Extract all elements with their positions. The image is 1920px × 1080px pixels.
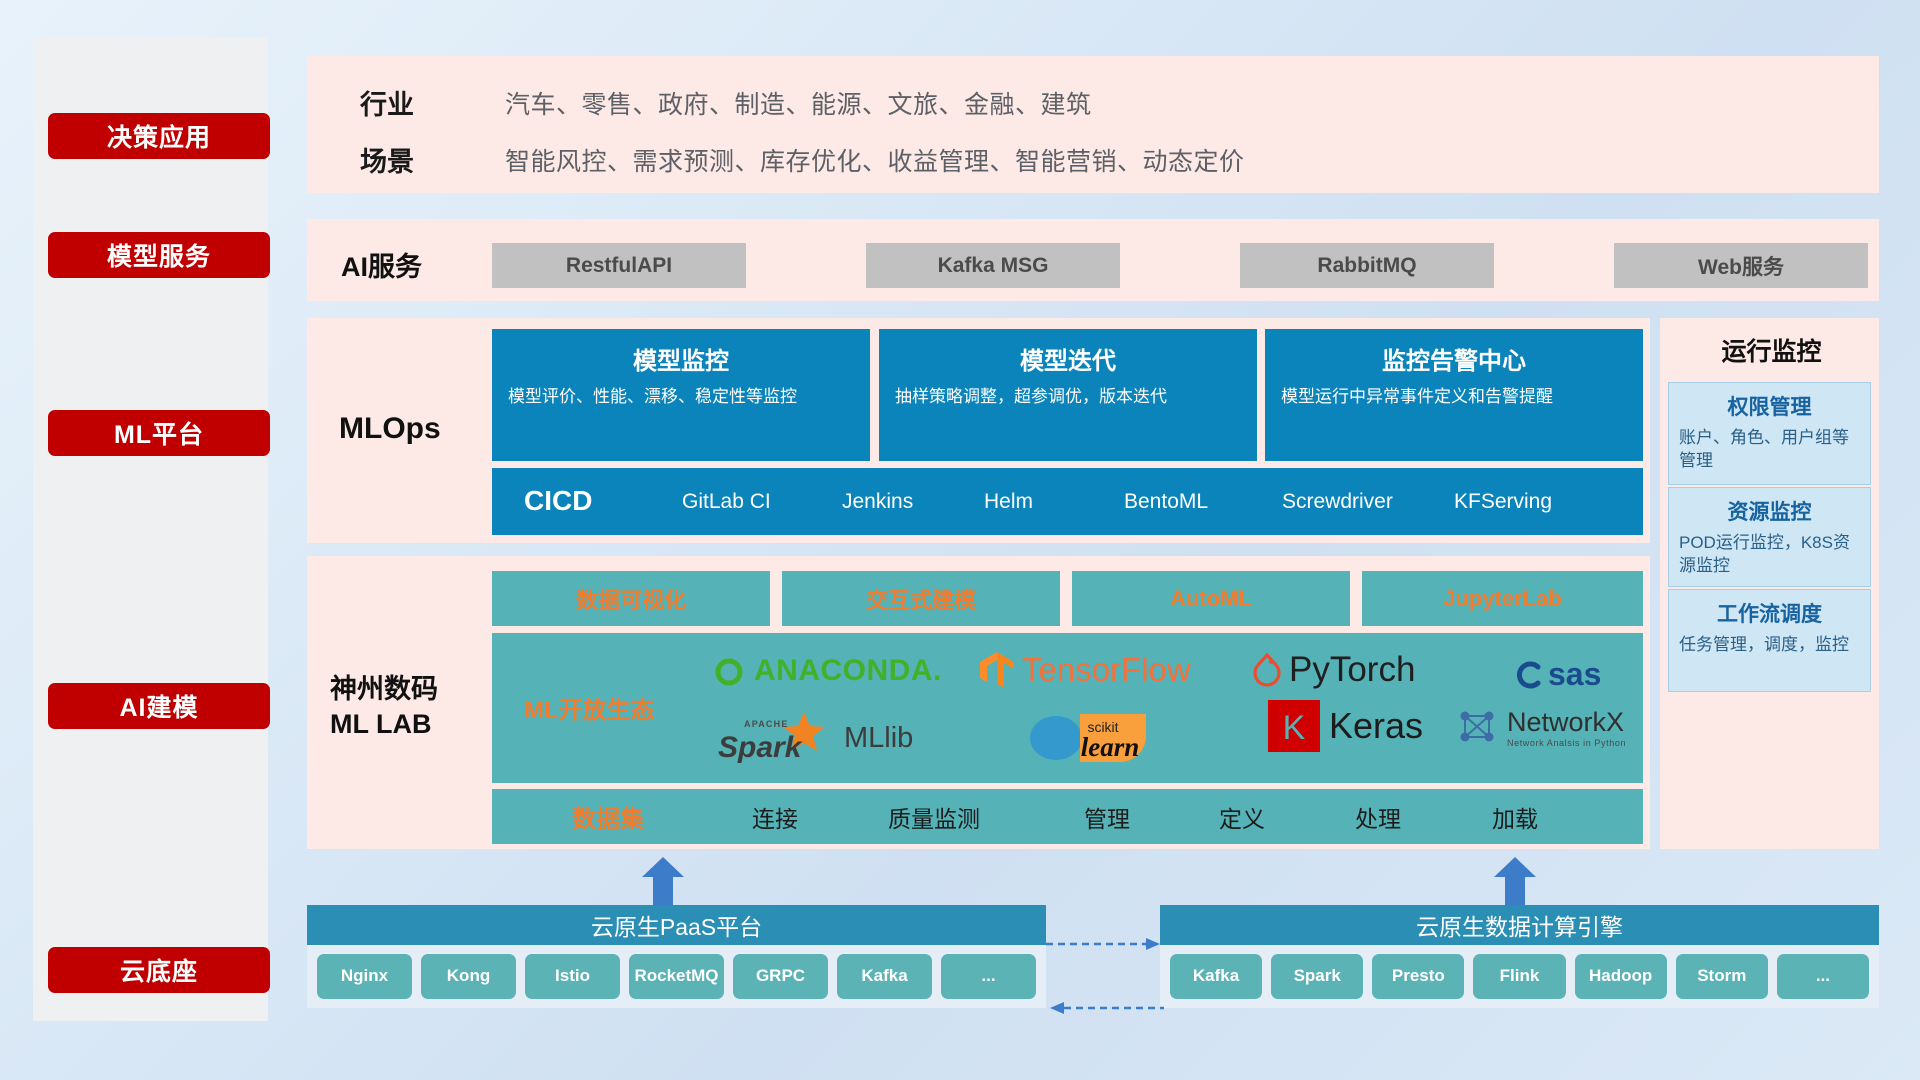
ml-lab-title-line2: ML LAB	[330, 709, 432, 739]
ml-ecosystem-label: ML开放生态	[524, 690, 655, 725]
stage-chip-ml-platform[interactable]: ML平台	[48, 410, 270, 456]
architecture-diagram: 决策应用 模型服务 ML平台 AI建模 云底座 行业 汽车、零售、政府、制造、能…	[0, 0, 1920, 1080]
cloud-chip-presto[interactable]: Presto	[1372, 954, 1464, 999]
cicd-title: CICD	[524, 485, 592, 517]
logo-networkx: NetworkX Network Analsis in Python	[1455, 704, 1626, 750]
svg-text:Spark: Spark	[718, 731, 803, 764]
tensorflow-wordmark: TensorFlow	[1022, 651, 1191, 689]
card-desc: 模型运行中异常事件定义和告警提醒	[1281, 386, 1627, 409]
networkx-wordmark: NetworkX	[1507, 707, 1626, 738]
dataset-item-definition[interactable]: 定义	[1219, 800, 1265, 834]
mlops-card-model-monitoring[interactable]: 模型监控 模型评价、性能、漂移、稳定性等监控	[492, 329, 870, 461]
cloud-chip-istio[interactable]: Istio	[525, 954, 620, 999]
anaconda-icon	[712, 654, 746, 688]
cicd-item-jenkins[interactable]: Jenkins	[842, 490, 914, 514]
cicd-item-helm[interactable]: Helm	[984, 490, 1056, 514]
ai-service-label: AI服务	[341, 245, 422, 284]
svg-text:learn: learn	[1081, 732, 1140, 762]
stage-chip-model-service[interactable]: 模型服务	[48, 232, 270, 278]
card-desc: POD运行监控，K8S资源监控	[1679, 532, 1860, 578]
dataset-item-loading[interactable]: 加载	[1492, 800, 1538, 834]
cloud-chip-flink[interactable]: Flink	[1473, 954, 1565, 999]
logo-anaconda: ANACONDA.	[712, 654, 942, 688]
arrow-up-data-engine	[1492, 857, 1538, 905]
card-desc: 抽样策略调整，超参调优，版本迭代	[895, 386, 1241, 409]
card-title: 模型监控	[508, 341, 854, 376]
monitor-column-title: 运行监控	[1684, 332, 1859, 368]
cicd-bar: CICD GitLab CI Jenkins Helm BentoML Scre…	[492, 468, 1643, 535]
cloud-head-data-engine: 云原生数据计算引擎	[1160, 905, 1879, 945]
cicd-item-gitlab-ci[interactable]: GitLab CI	[682, 490, 802, 514]
monitor-card-permissions[interactable]: 权限管理 账户、角色、用户组等管理	[1668, 382, 1871, 485]
networkx-tagline: Network Analsis in Python	[1507, 738, 1626, 748]
ml-lab-title-line1: 神州数码	[330, 674, 438, 704]
networkx-icon	[1455, 704, 1501, 750]
arrow-dashed-right	[1046, 938, 1164, 950]
pytorch-wordmark: PyTorch	[1289, 650, 1415, 690]
card-title: 模型迭代	[895, 341, 1241, 376]
cloud-group-paas: 云原生PaaS平台 Nginx Kong Istio RocketMQ GRPC…	[307, 905, 1046, 1008]
service-pill-kafka-msg[interactable]: Kafka MSG	[866, 243, 1120, 288]
card-desc: 账户、角色、用户组等管理	[1679, 427, 1860, 473]
spark-icon: APACHE Spark	[718, 710, 836, 766]
mlops-card-model-iteration[interactable]: 模型迭代 抽样策略调整，超参调优，版本迭代	[879, 329, 1257, 461]
service-pill-rabbitmq[interactable]: RabbitMQ	[1240, 243, 1494, 288]
logo-pytorch: PyTorch	[1252, 650, 1415, 690]
service-pill-web-service[interactable]: Web服务	[1614, 243, 1868, 288]
arrow-dashed-left	[1046, 1002, 1164, 1014]
pytorch-icon	[1252, 651, 1282, 689]
svg-text:K: K	[1283, 709, 1306, 747]
cloud-chip-spark[interactable]: Spark	[1271, 954, 1363, 999]
scikit-learn-icon: scikit learn	[1028, 704, 1178, 766]
scenario-value: 智能风控、需求预测、库存优化、收益管理、智能营销、动态定价	[505, 142, 1245, 178]
cloud-chip-kafka-2[interactable]: Kafka	[1170, 954, 1262, 999]
logo-sas: sas	[1512, 656, 1601, 693]
dataset-item-management[interactable]: 管理	[1084, 800, 1130, 834]
sas-wordmark: sas	[1548, 656, 1601, 693]
cloud-head-paas: 云原生PaaS平台	[307, 905, 1046, 945]
ml-lab-title: 神州数码 ML LAB	[330, 672, 438, 742]
lab-pill-interactive-modeling[interactable]: 交互式建模	[782, 571, 1060, 626]
cloud-chip-more-2[interactable]: ...	[1777, 954, 1869, 999]
logo-spark-mllib: APACHE Spark MLlib	[718, 710, 913, 766]
dataset-item-connect[interactable]: 连接	[752, 800, 798, 834]
dataset-item-processing[interactable]: 处理	[1355, 800, 1401, 834]
svg-text:APACHE: APACHE	[744, 719, 789, 729]
lab-pill-jupyterlab[interactable]: JupyterLab	[1362, 571, 1643, 626]
cloud-chip-grpc[interactable]: GRPC	[733, 954, 828, 999]
cloud-chip-more[interactable]: ...	[941, 954, 1036, 999]
card-desc: 模型评价、性能、漂移、稳定性等监控	[508, 386, 854, 409]
industry-value: 汽车、零售、政府、制造、能源、文旅、金融、建筑	[505, 85, 1092, 121]
card-title: 工作流调度	[1679, 598, 1860, 628]
cloud-chip-storm[interactable]: Storm	[1676, 954, 1768, 999]
service-pill-restfulapi[interactable]: RestfulAPI	[492, 243, 746, 288]
cloud-chip-kong[interactable]: Kong	[421, 954, 516, 999]
keras-icon: K	[1268, 700, 1320, 752]
cloud-chip-hadoop[interactable]: Hadoop	[1575, 954, 1667, 999]
cicd-item-kfserving[interactable]: KFServing	[1454, 490, 1559, 514]
scenario-label: 场景	[360, 140, 414, 179]
logo-tensorflow: TensorFlow	[978, 650, 1191, 690]
cloud-group-data-engine: 云原生数据计算引擎 Kafka Spark Presto Flink Hadoo…	[1160, 905, 1879, 1008]
cloud-chip-list-paas: Nginx Kong Istio RocketMQ GRPC Kafka ...	[307, 945, 1046, 1008]
cloud-chip-list-data-engine: Kafka Spark Presto Flink Hadoop Storm ..…	[1160, 945, 1879, 1008]
cloud-chip-rocketmq[interactable]: RocketMQ	[629, 954, 724, 999]
cloud-chip-nginx[interactable]: Nginx	[317, 954, 412, 999]
logo-keras: K Keras	[1268, 700, 1423, 752]
dataset-bar: 数据集 连接 质量监测 管理 定义 处理 加载	[492, 789, 1643, 844]
cicd-item-bentoml[interactable]: BentoML	[1124, 490, 1217, 514]
cloud-chip-kafka[interactable]: Kafka	[837, 954, 932, 999]
cicd-item-screwdriver[interactable]: Screwdriver	[1282, 490, 1390, 514]
dataset-item-quality-monitoring[interactable]: 质量监测	[888, 800, 980, 834]
sas-icon	[1512, 659, 1544, 691]
lab-pill-data-visualization[interactable]: 数据可视化	[492, 571, 770, 626]
dataset-head: 数据集	[572, 799, 644, 834]
anaconda-wordmark: ANACONDA.	[754, 654, 942, 688]
arrow-up-paas	[640, 857, 686, 905]
monitor-card-resources[interactable]: 资源监控 POD运行监控，K8S资源监控	[1668, 487, 1871, 587]
stage-rail	[33, 37, 268, 1021]
monitor-card-workflow[interactable]: 工作流调度 任务管理，调度，监控	[1668, 589, 1871, 692]
lab-pill-automl[interactable]: AutoML	[1072, 571, 1350, 626]
keras-wordmark: Keras	[1329, 705, 1423, 747]
mllib-wordmark: MLlib	[844, 722, 913, 755]
logo-scikit-learn: scikit learn	[1028, 704, 1178, 771]
tensorflow-icon	[978, 650, 1016, 690]
stage-chip-ai-modeling[interactable]: AI建模	[48, 683, 270, 729]
card-desc: 任务管理，调度，监控	[1679, 634, 1860, 657]
industry-label: 行业	[360, 83, 414, 122]
card-title: 监控告警中心	[1281, 341, 1627, 376]
card-title: 权限管理	[1679, 391, 1860, 421]
stage-chip-cloud-base[interactable]: 云底座	[48, 947, 270, 993]
mlops-label: MLOps	[339, 412, 441, 446]
mlops-card-alert-center[interactable]: 监控告警中心 模型运行中异常事件定义和告警提醒	[1265, 329, 1643, 461]
stage-chip-decision-app[interactable]: 决策应用	[48, 113, 270, 159]
card-title: 资源监控	[1679, 496, 1860, 526]
